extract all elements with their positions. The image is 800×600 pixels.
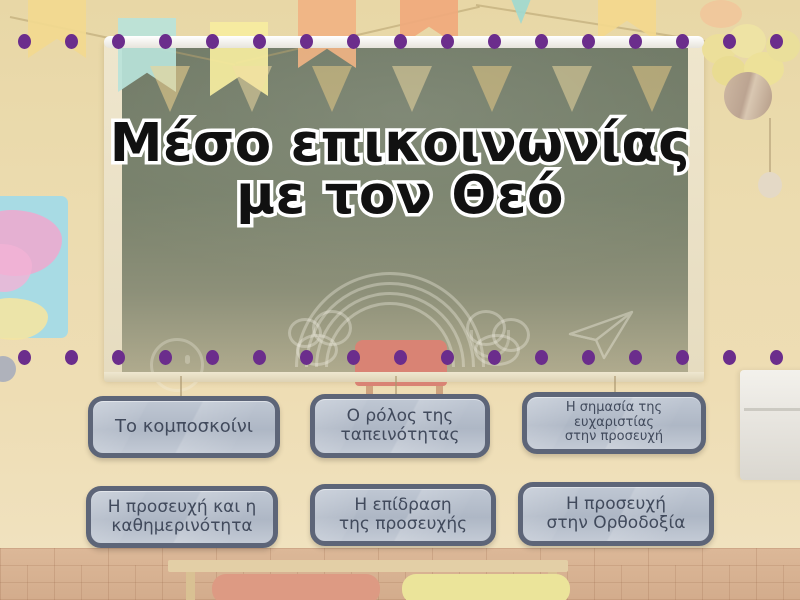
answer-card-4[interactable]: Η προσευχή και ηκαθημερινότητα bbox=[86, 486, 278, 548]
scene-stage: Μέσο επικοινωνίας με τον Θεό Το κομποσκο… bbox=[0, 0, 800, 600]
card-6-line-1: Η προσευχή bbox=[531, 495, 701, 514]
card-5-line-1: Η επίδραση bbox=[323, 496, 483, 515]
card-4-line-1: Η προσευχή και η bbox=[99, 498, 265, 517]
card-5-line-2: της προσευχής bbox=[323, 515, 483, 534]
answer-card-2[interactable]: Ο ρόλος τηςταπεινότητας bbox=[310, 394, 490, 458]
card-1-line-1: Το κομποσκοίνι bbox=[101, 417, 267, 438]
answer-card-6[interactable]: Η προσευχήστην Ορθοδοξία bbox=[518, 482, 714, 546]
answer-card-2-label: Ο ρόλος τηςταπεινότητας bbox=[323, 407, 477, 446]
card-3-line-1: Η σημασία της bbox=[535, 401, 693, 416]
card-6-line-2: στην Ορθοδοξία bbox=[531, 514, 701, 533]
card-3-line-3: στην προσευχή bbox=[535, 430, 693, 445]
answer-card-1-label: Το κομποσκοίνι bbox=[101, 417, 267, 438]
card-4-line-2: καθημερινότητα bbox=[99, 517, 265, 536]
answer-card-3-label: Η σημασία τηςευχαριστίαςστην προσευχή bbox=[535, 401, 693, 445]
card-grid: Το κομποσκοίνι Ο ρόλος τηςταπεινότητας Η… bbox=[0, 0, 800, 600]
card-2-line-2: ταπεινότητας bbox=[323, 426, 477, 445]
answer-card-4-label: Η προσευχή και ηκαθημερινότητα bbox=[99, 498, 265, 537]
card-2-line-1: Ο ρόλος της bbox=[323, 407, 477, 426]
answer-card-6-label: Η προσευχήστην Ορθοδοξία bbox=[531, 495, 701, 534]
card-pin-1 bbox=[180, 376, 182, 398]
answer-card-1[interactable]: Το κομποσκοίνι bbox=[88, 396, 280, 458]
answer-card-3[interactable]: Η σημασία τηςευχαριστίαςστην προσευχή bbox=[522, 392, 706, 454]
answer-card-5[interactable]: Η επίδρασητης προσευχής bbox=[310, 484, 496, 546]
answer-card-5-label: Η επίδρασητης προσευχής bbox=[323, 496, 483, 535]
card-3-line-2: ευχαριστίας bbox=[535, 416, 693, 431]
